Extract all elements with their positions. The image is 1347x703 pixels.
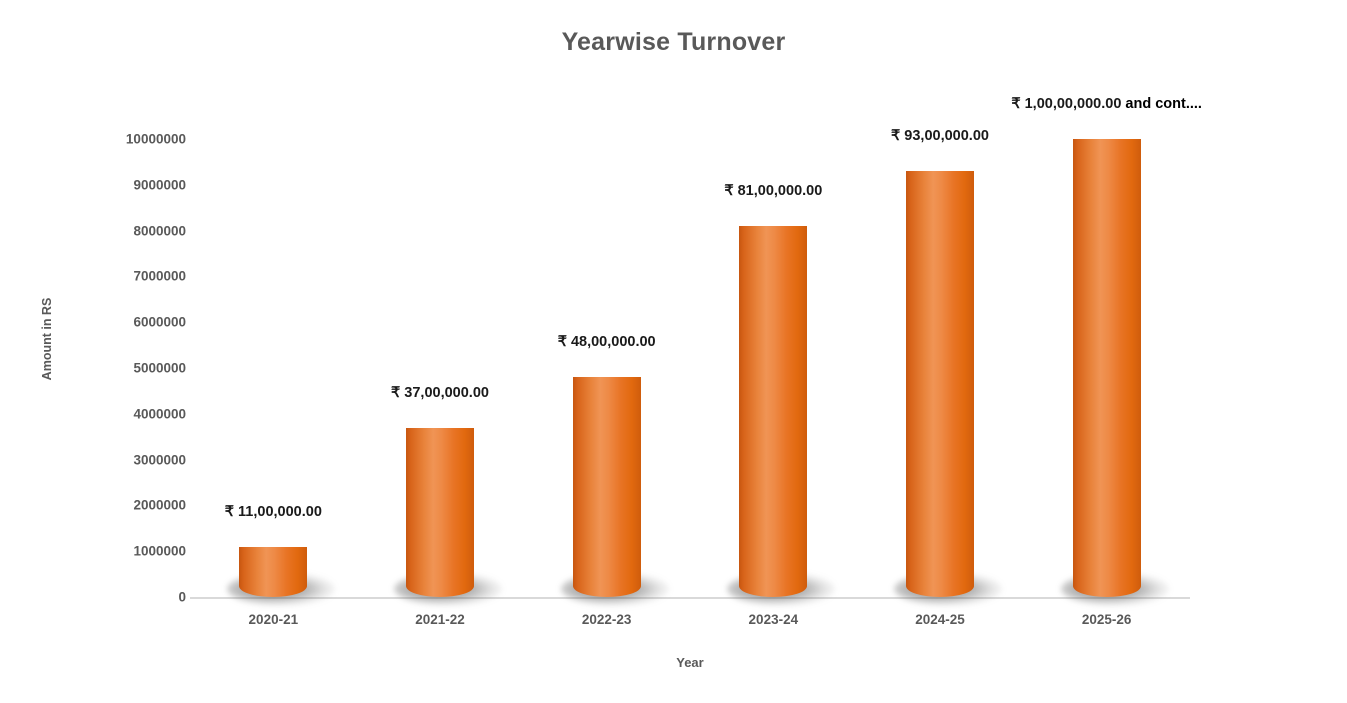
cylinder-top-ellipse <box>573 366 641 388</box>
cylinder-top-ellipse <box>739 215 807 237</box>
data-label-2023-24: ₹ 81,00,000.00 <box>724 183 822 199</box>
cylinder-body <box>739 226 807 597</box>
y-axis-tick-label: 7000000 <box>86 269 186 284</box>
cylinder <box>406 417 474 597</box>
y-axis-tick-labels: 1000000090000008000000700000060000005000… <box>86 0 186 703</box>
data-label-2024-25: ₹ 93,00,000.00 <box>891 128 989 144</box>
data-label-value: ₹ 37,00,000.00 <box>391 385 489 401</box>
y-axis-tick-label: 5000000 <box>86 361 186 376</box>
data-label-2022-23: ₹ 48,00,000.00 <box>558 334 656 350</box>
x-axis-label-2020-21: 2020-21 <box>193 612 353 627</box>
y-axis-title: Amount in RS <box>40 269 54 409</box>
bar-2021-22[interactable] <box>406 417 474 597</box>
y-axis-tick-label: 0 <box>86 590 186 605</box>
x-axis-label-2025-26: 2025-26 <box>1027 612 1187 627</box>
x-axis-title: Year <box>190 655 1190 670</box>
cylinder-top-highlight <box>912 162 962 171</box>
data-label-suffix: and cont.... <box>1121 96 1202 112</box>
data-label-value: ₹ 93,00,000.00 <box>891 128 989 144</box>
cylinder <box>739 215 807 597</box>
data-label-value: ₹ 1,00,00,000.00 <box>1011 96 1121 112</box>
cylinder <box>239 536 307 597</box>
bar-2020-21[interactable] <box>239 536 307 597</box>
y-axis-tick-label: 9000000 <box>86 177 186 192</box>
y-axis-tick-label: 4000000 <box>86 406 186 421</box>
cylinder <box>573 366 641 597</box>
cylinder <box>1073 128 1141 597</box>
data-label-2021-22: ₹ 37,00,000.00 <box>391 385 489 401</box>
cylinder-body <box>406 428 474 597</box>
bar-2022-23[interactable] <box>573 366 641 597</box>
cylinder-top-ellipse <box>239 536 307 558</box>
y-axis-tick-label: 1000000 <box>86 544 186 559</box>
chart-container: Yearwise Turnover Amount in RS 100000009… <box>0 0 1347 703</box>
plot-area: ₹ 11,00,000.00₹ 37,00,000.00₹ 48,00,000.… <box>190 0 1190 703</box>
cylinder-top-ellipse <box>1073 128 1141 150</box>
data-label-value: ₹ 48,00,000.00 <box>558 334 656 350</box>
cylinder-body <box>1073 139 1141 597</box>
cylinder-top-ellipse <box>906 160 974 182</box>
data-label-value: ₹ 11,00,000.00 <box>225 504 322 520</box>
y-axis-tick-label: 6000000 <box>86 315 186 330</box>
bar-2023-24[interactable] <box>739 215 807 597</box>
y-axis-tick-label: 10000000 <box>86 132 186 147</box>
y-axis-tick-label: 8000000 <box>86 223 186 238</box>
x-axis-line <box>190 597 1190 599</box>
cylinder-top-highlight <box>579 368 629 377</box>
cylinder-body <box>573 377 641 597</box>
x-axis-label-2024-25: 2024-25 <box>860 612 1020 627</box>
data-label-value: ₹ 81,00,000.00 <box>724 183 822 199</box>
x-axis-label-2022-23: 2022-23 <box>527 612 687 627</box>
y-axis-tick-label: 2000000 <box>86 498 186 513</box>
bar-2024-25[interactable] <box>906 160 974 597</box>
cylinder-top-ellipse <box>406 417 474 439</box>
data-label-2025-26: ₹ 1,00,00,000.00 and cont.... <box>1011 96 1202 112</box>
cylinder <box>906 160 974 597</box>
x-axis-label-2021-22: 2021-22 <box>360 612 520 627</box>
bar-2025-26[interactable] <box>1073 128 1141 597</box>
cylinder-top-highlight <box>1079 130 1129 139</box>
cylinder-top-highlight <box>412 419 462 428</box>
cylinder-body <box>906 171 974 597</box>
x-axis-label-2023-24: 2023-24 <box>693 612 853 627</box>
cylinder-top-highlight <box>745 217 795 226</box>
y-axis-tick-label: 3000000 <box>86 452 186 467</box>
data-label-2020-21: ₹ 11,00,000.00 <box>225 504 322 520</box>
cylinder-top-highlight <box>245 538 295 547</box>
